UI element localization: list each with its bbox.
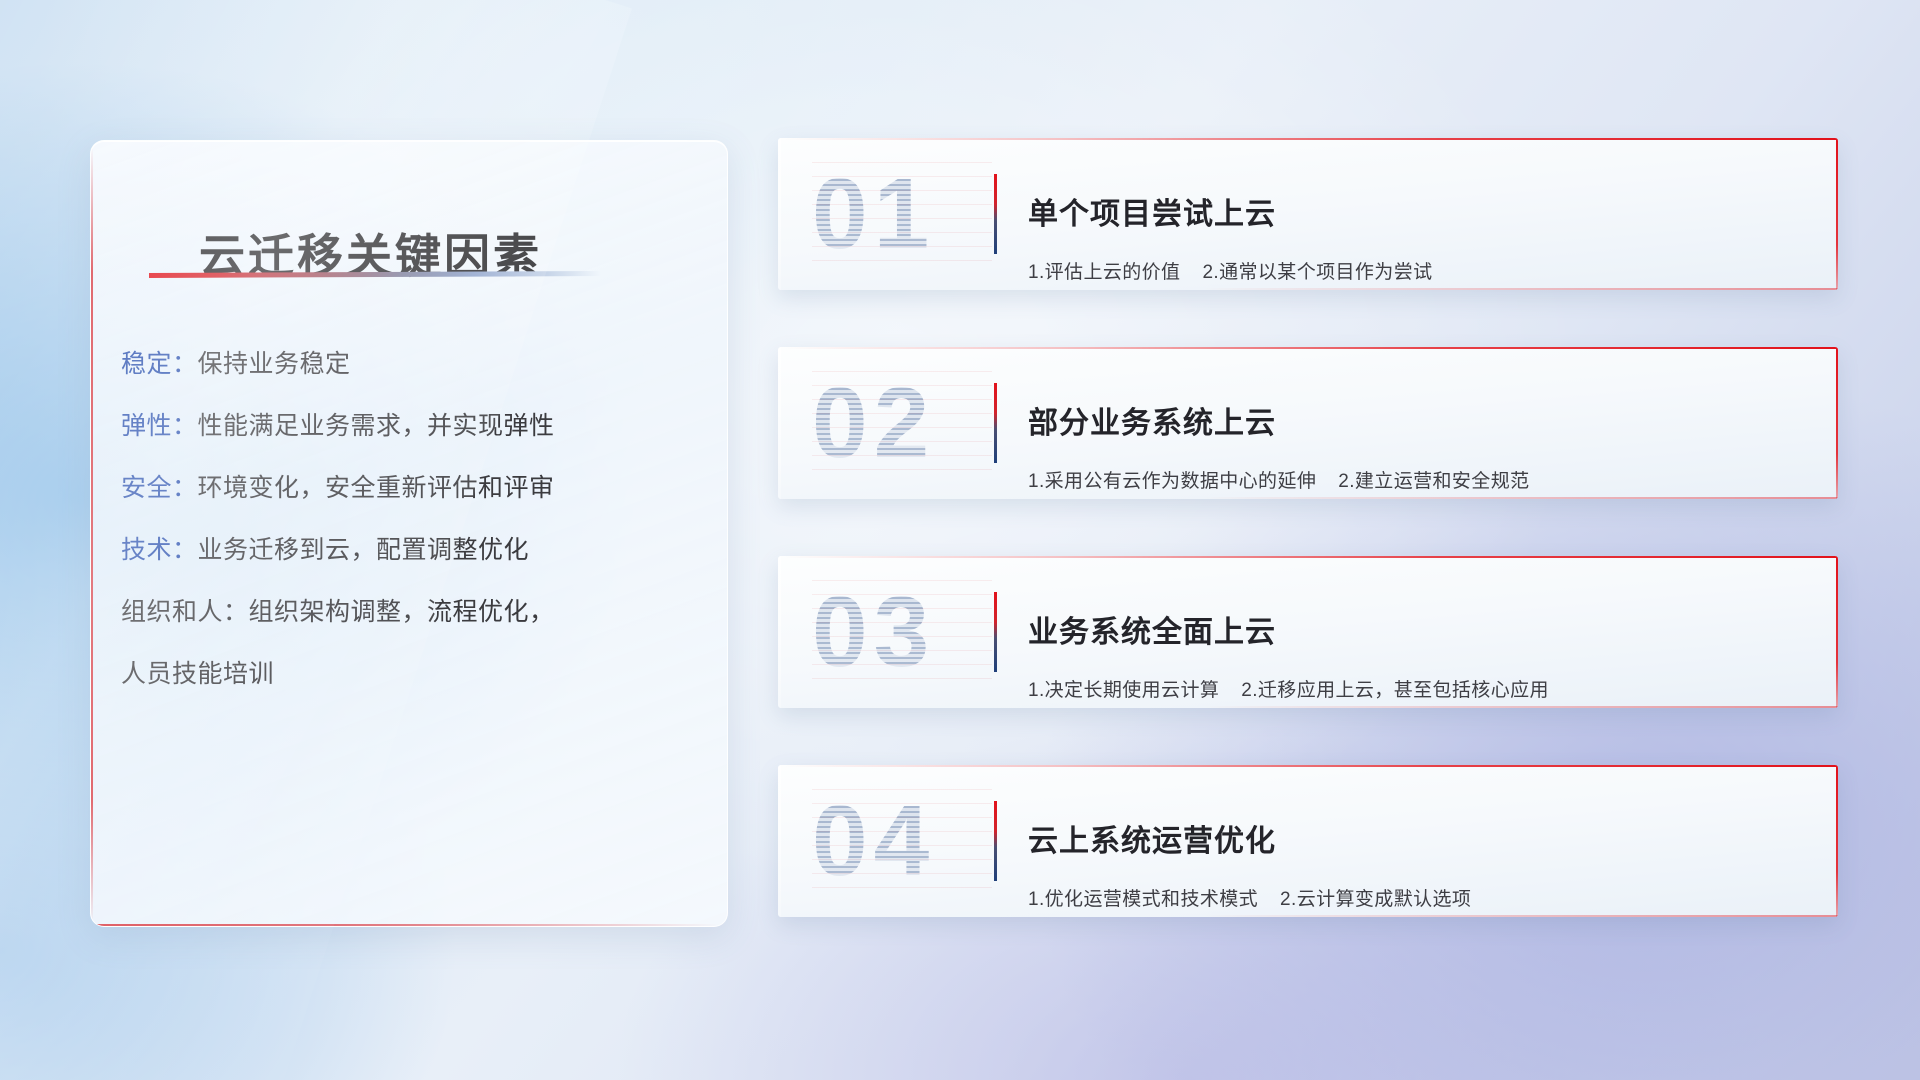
card-step-number: 02 (812, 373, 935, 473)
slide-stage: 云迁移关键因素 稳定：保持业务稳定 弹性：性能满足业务需求，并实现弹性 安全：环… (0, 0, 1920, 1080)
stage-card-02[interactable]: 02 部分业务系统上云 1.采用公有云作为数据中心的延伸2.建立运营和安全规范 (778, 347, 1838, 499)
card-heading: 业务系统全面上云 (1028, 613, 1810, 653)
card-point-2: 2.通常以某个项目作为尝试 (1202, 262, 1432, 283)
migration-stage-cards: 01 单个项目尝试上云 1.评估上云的价值2.通常以某个项目作为尝试 02 (778, 138, 1838, 917)
card-body: 云上系统运营优化 1.优化运营模式和技术模式2.云计算变成默认选项 (1028, 797, 1810, 917)
card-left-edge (778, 765, 781, 917)
list-item-text: 业务迁移到云，配置调整优化 (198, 536, 530, 564)
card-top-accent-line (784, 138, 1838, 140)
panel-bottom-accent-line (93, 924, 719, 926)
list-item-key: 组织和人： (121, 598, 249, 626)
card-subtitle: 1.评估上云的价值2.通常以某个项目作为尝试 (1028, 260, 1810, 286)
card-point-1: 1.优化运营模式和技术模式 (1028, 889, 1258, 910)
card-divider-bar (994, 801, 997, 881)
list-item-continuation: 人员技能培训 (121, 643, 703, 705)
list-item: 弹性：性能满足业务需求，并实现弹性 (121, 395, 703, 457)
card-right-accent-line (1836, 347, 1838, 499)
card-step-number: 04 (812, 791, 935, 891)
card-left-edge (778, 347, 781, 499)
card-subtitle: 1.决定长期使用云计算2.迁移应用上云，甚至包括核心应用 (1028, 678, 1810, 704)
key-factors-panel: 云迁移关键因素 稳定：保持业务稳定 弹性：性能满足业务需求，并实现弹性 安全：环… (90, 140, 728, 927)
card-right-accent-line (1836, 765, 1838, 917)
card-body: 业务系统全面上云 1.决定长期使用云计算2.迁移应用上云，甚至包括核心应用 (1028, 588, 1810, 708)
card-point-1: 1.决定长期使用云计算 (1028, 680, 1219, 701)
list-item-text: 组织架构调整，流程优化， (249, 598, 555, 626)
card-heading: 单个项目尝试上云 (1028, 195, 1810, 235)
card-heading: 云上系统运营优化 (1028, 822, 1810, 862)
card-step-number: 03 (812, 582, 935, 682)
card-top-accent-line (784, 347, 1838, 349)
list-item-text: 保持业务稳定 (198, 350, 351, 378)
list-item-text: 人员技能培训 (121, 660, 274, 688)
card-body: 单个项目尝试上云 1.评估上云的价值2.通常以某个项目作为尝试 (1028, 170, 1810, 290)
card-point-2: 2.迁移应用上云，甚至包括核心应用 (1241, 680, 1549, 701)
card-point-2: 2.建立运营和安全规范 (1338, 471, 1529, 492)
card-divider-bar (994, 383, 997, 463)
card-subtitle: 1.优化运营模式和技术模式2.云计算变成默认选项 (1028, 887, 1810, 913)
list-item-text: 环境变化，安全重新评估和评审 (198, 474, 555, 502)
card-body: 部分业务系统上云 1.采用公有云作为数据中心的延伸2.建立运营和安全规范 (1028, 379, 1810, 499)
card-top-accent-line (784, 765, 1838, 767)
card-top-accent-line (784, 556, 1838, 558)
list-item-key: 弹性： (121, 412, 198, 440)
list-item-text: 性能满足业务需求，并实现弹性 (198, 412, 555, 440)
stage-card-04[interactable]: 04 云上系统运营优化 1.优化运营模式和技术模式2.云计算变成默认选项 (778, 765, 1838, 917)
card-subtitle: 1.采用公有云作为数据中心的延伸2.建立运营和安全规范 (1028, 469, 1810, 495)
card-point-1: 1.采用公有云作为数据中心的延伸 (1028, 471, 1316, 492)
stage-card-01[interactable]: 01 单个项目尝试上云 1.评估上云的价值2.通常以某个项目作为尝试 (778, 138, 1838, 290)
panel-left-accent-line (91, 147, 93, 924)
stage-card-03[interactable]: 03 业务系统全面上云 1.决定长期使用云计算2.迁移应用上云，甚至包括核心应用 (778, 556, 1838, 708)
list-item-key: 稳定： (121, 350, 198, 378)
card-point-1: 1.评估上云的价值 (1028, 262, 1180, 283)
list-item: 技术：业务迁移到云，配置调整优化 (121, 519, 703, 581)
card-right-accent-line (1836, 138, 1838, 290)
list-item: 稳定：保持业务稳定 (121, 333, 703, 395)
card-step-number: 01 (812, 164, 935, 264)
key-factors-list: 稳定：保持业务稳定 弹性：性能满足业务需求，并实现弹性 安全：环境变化，安全重新… (121, 333, 703, 705)
card-left-edge (778, 556, 781, 708)
card-point-2: 2.云计算变成默认选项 (1280, 889, 1471, 910)
list-item-key: 安全： (121, 474, 198, 502)
list-item: 组织和人：组织架构调整，流程优化， (121, 581, 703, 643)
card-divider-bar (994, 592, 997, 672)
slide-canvas: 云迁移关键因素 稳定：保持业务稳定 弹性：性能满足业务需求，并实现弹性 安全：环… (0, 0, 1920, 1080)
list-item-key: 技术： (121, 536, 198, 564)
list-item: 安全：环境变化，安全重新评估和评审 (121, 457, 703, 519)
card-right-accent-line (1836, 556, 1838, 708)
card-divider-bar (994, 174, 997, 254)
card-heading: 部分业务系统上云 (1028, 404, 1810, 444)
card-left-edge (778, 138, 781, 290)
